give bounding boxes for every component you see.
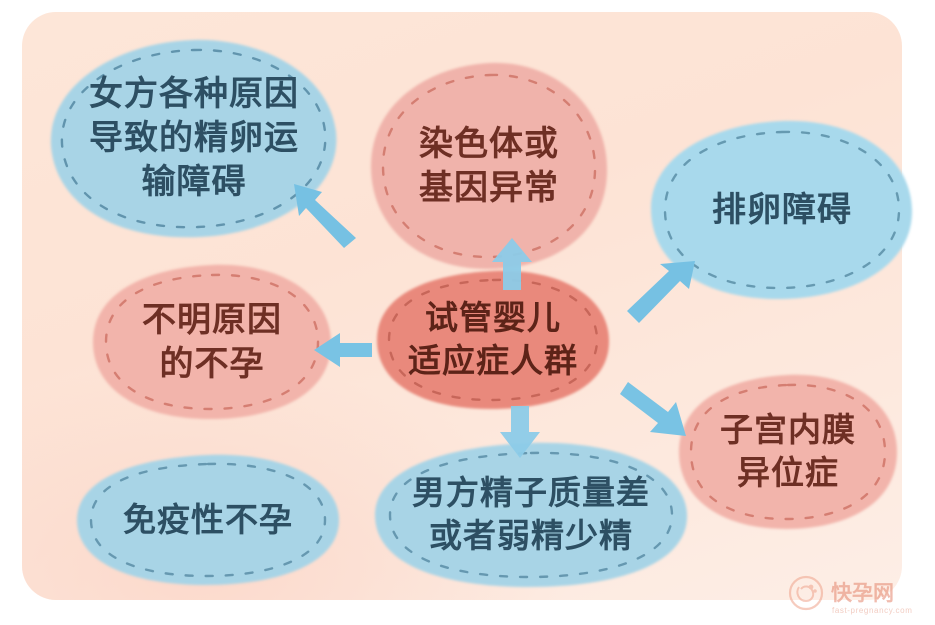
node-ovulation-label: 排卵障碍 <box>712 188 852 232</box>
node-immune-infertility[interactable]: 免疫性不孕 <box>74 452 342 588</box>
node-sperm-label: 男方精子质量差 或者弱精少精 <box>412 472 650 558</box>
arrow-to-endometriosis-icon <box>620 378 692 442</box>
arrow-to-ovulation-icon <box>625 255 703 329</box>
node-sperm-quality[interactable]: 男方精子质量差 或者弱精少精 <box>372 440 690 590</box>
arrow-to-transport-icon <box>286 176 366 252</box>
watermark-logo-icon: 快孕网 fast-pregnancy.com <box>787 573 927 619</box>
node-center-label: 试管婴儿 适应症人群 <box>408 297 578 383</box>
node-transport-label: 女方各种原因 导致的精卵运 输障碍 <box>89 72 299 205</box>
node-unexplained-infertility[interactable]: 不明原因 的不孕 <box>90 262 334 422</box>
watermark: 快孕网 fast-pregnancy.com <box>787 573 927 619</box>
node-chromosome-abnormality[interactable]: 染色体或 基因异常 <box>368 60 610 272</box>
arrow-to-unknown-icon <box>312 330 374 370</box>
watermark-brand-text: 快孕网 <box>831 582 894 605</box>
node-endometriosis-label: 子宫内膜 异位症 <box>720 409 856 495</box>
node-immune-label: 免疫性不孕 <box>123 499 293 542</box>
node-unknown-label: 不明原因 的不孕 <box>142 298 282 386</box>
watermark-url-text: fast-pregnancy.com <box>832 606 912 615</box>
node-endometriosis[interactable]: 子宫内膜 异位症 <box>676 372 900 532</box>
node-chromosome-label: 染色体或 基因异常 <box>419 122 559 210</box>
diagram-canvas: 女方各种原因 导致的精卵运 输障碍 染色体或 基因异常 排卵障碍 不明原因 的不… <box>0 0 935 625</box>
arrow-to-chromosome-icon <box>490 236 534 292</box>
arrow-to-sperm-icon <box>498 404 542 460</box>
